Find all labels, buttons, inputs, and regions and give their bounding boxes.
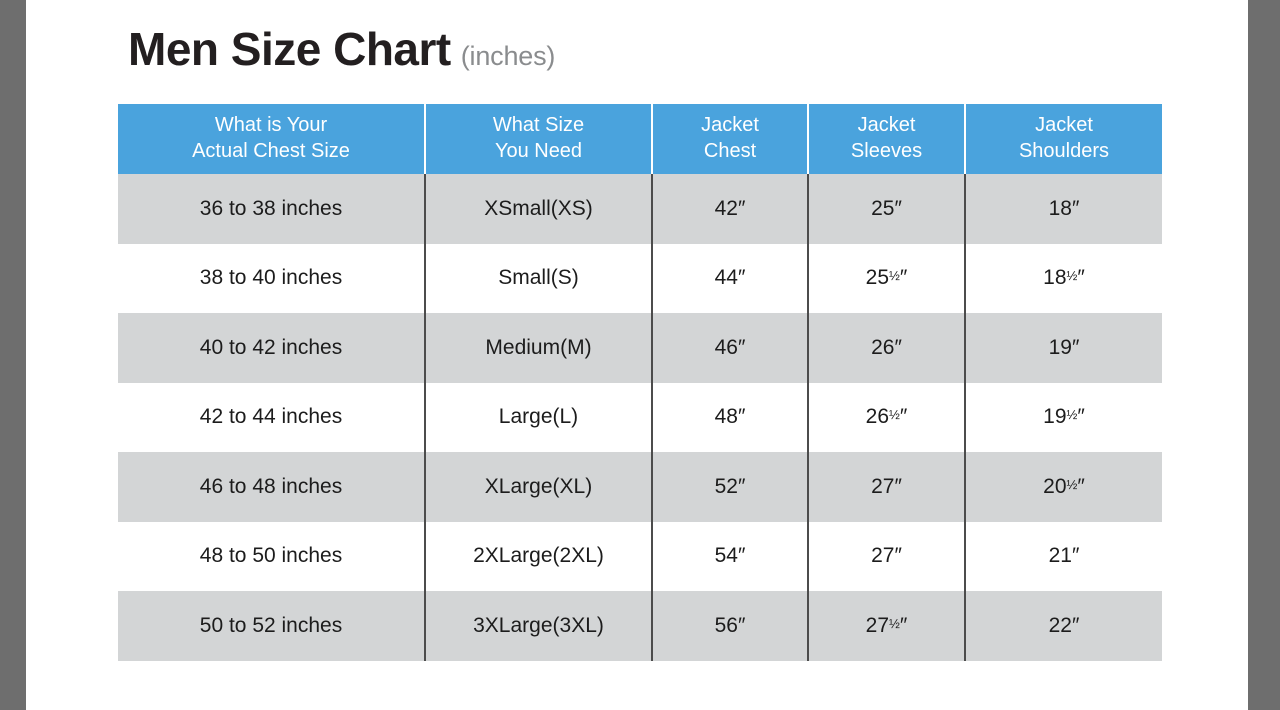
half-fraction: ½ [889,616,900,631]
inch-mark: ″ [1072,336,1079,359]
half-fraction: ½ [1067,268,1078,283]
cell-jacket-shoulders: 19½″ [965,383,1162,453]
cell-size-needed: 2XLarge(2XL) [425,522,652,592]
inch-mark: ″ [738,475,745,498]
column-header-line2: Sleeves [813,139,960,165]
right-letterbox-bar [1248,0,1280,710]
column-header-actual-chest-size: What is Your Actual Chest Size [118,104,425,174]
inch-mark: ″ [1077,266,1084,289]
inch-mark: ″ [894,197,901,220]
cell-jacket-sleeves: 26″ [808,313,965,383]
inch-mark: ″ [894,475,901,498]
cell-jacket-shoulders: 22″ [965,591,1162,661]
inch-mark: ″ [1077,405,1084,428]
column-header-line2: You Need [430,139,647,165]
cell-size-needed: XSmall(XS) [425,174,652,244]
table-row: 40 to 42 inchesMedium(M)46″26″19″ [118,313,1162,383]
inch-mark: ″ [738,266,745,289]
inch-mark: ″ [900,266,907,289]
page-title-units: (inches) [461,41,555,72]
cell-jacket-sleeves: 27″ [808,452,965,522]
column-header-jacket-chest: Jacket Chest [652,104,808,174]
inch-mark: ″ [900,614,907,637]
page-title-main: Men Size Chart [128,22,451,76]
inch-mark: ″ [894,544,901,567]
cell-jacket-shoulders: 19″ [965,313,1162,383]
cell-actual-chest-size: 46 to 48 inches [118,452,425,522]
table-row: 48 to 50 inches2XLarge(2XL)54″27″21″ [118,522,1162,592]
inch-mark: ″ [738,197,745,220]
cell-jacket-shoulders: 18″ [965,174,1162,244]
cell-actual-chest-size: 40 to 42 inches [118,313,425,383]
table-header: What is Your Actual Chest Size What Size… [118,104,1162,174]
column-header-jacket-sleeves: Jacket Sleeves [808,104,965,174]
cell-jacket-chest: 48″ [652,383,808,453]
page-title: Men Size Chart (inches) [128,22,555,76]
cell-size-needed: 3XLarge(3XL) [425,591,652,661]
inch-mark: ″ [1072,544,1079,567]
left-letterbox-bar [0,0,26,710]
inch-mark: ″ [894,336,901,359]
inch-mark: ″ [1077,475,1084,498]
cell-jacket-chest: 56″ [652,591,808,661]
column-header-line1: Jacket [813,113,960,139]
cell-actual-chest-size: 48 to 50 inches [118,522,425,592]
cell-actual-chest-size: 38 to 40 inches [118,244,425,314]
cell-jacket-shoulders: 18½″ [965,244,1162,314]
half-fraction: ½ [889,268,900,283]
column-header-line2: Actual Chest Size [122,139,420,165]
cell-actual-chest-size: 42 to 44 inches [118,383,425,453]
half-fraction: ½ [889,407,900,422]
cell-jacket-sleeves: 27″ [808,522,965,592]
inch-mark: ″ [1072,197,1079,220]
column-header-line1: Jacket [970,113,1158,139]
table-row: 42 to 44 inchesLarge(L)48″26½″19½″ [118,383,1162,453]
cell-size-needed: XLarge(XL) [425,452,652,522]
cell-jacket-chest: 54″ [652,522,808,592]
table-header-row: What is Your Actual Chest Size What Size… [118,104,1162,174]
column-header-jacket-shoulders: Jacket Shoulders [965,104,1162,174]
column-header-line2: Shoulders [970,139,1158,165]
cell-jacket-chest: 42″ [652,174,808,244]
size-chart-page: Men Size Chart (inches) What is Your Act… [26,0,1248,710]
table-row: 36 to 38 inchesXSmall(XS)42″25″18″ [118,174,1162,244]
cell-size-needed: Small(S) [425,244,652,314]
column-header-line1: What Size [430,113,647,139]
cell-jacket-sleeves: 25½″ [808,244,965,314]
table-row: 50 to 52 inches3XLarge(3XL)56″27½″22″ [118,591,1162,661]
column-header-line2: Chest [657,139,803,165]
cell-jacket-shoulders: 21″ [965,522,1162,592]
inch-mark: ″ [900,405,907,428]
cell-jacket-sleeves: 27½″ [808,591,965,661]
half-fraction: ½ [1067,407,1078,422]
inch-mark: ″ [738,544,745,567]
inch-mark: ″ [1072,614,1079,637]
inch-mark: ″ [738,405,745,428]
cell-jacket-shoulders: 20½″ [965,452,1162,522]
table-row: 38 to 40 inchesSmall(S)44″25½″18½″ [118,244,1162,314]
column-header-line1: What is Your [122,113,420,139]
column-header-size-needed: What Size You Need [425,104,652,174]
cell-actual-chest-size: 36 to 38 inches [118,174,425,244]
cell-jacket-chest: 44″ [652,244,808,314]
size-chart-table: What is Your Actual Chest Size What Size… [118,104,1162,661]
cell-actual-chest-size: 50 to 52 inches [118,591,425,661]
cell-jacket-chest: 52″ [652,452,808,522]
cell-size-needed: Large(L) [425,383,652,453]
cell-jacket-chest: 46″ [652,313,808,383]
cell-jacket-sleeves: 26½″ [808,383,965,453]
cell-size-needed: Medium(M) [425,313,652,383]
cell-jacket-sleeves: 25″ [808,174,965,244]
table-row: 46 to 48 inchesXLarge(XL)52″27″20½″ [118,452,1162,522]
inch-mark: ″ [738,336,745,359]
table-body: 36 to 38 inchesXSmall(XS)42″25″18″38 to … [118,174,1162,661]
inch-mark: ″ [738,614,745,637]
half-fraction: ½ [1067,477,1078,492]
column-header-line1: Jacket [657,113,803,139]
